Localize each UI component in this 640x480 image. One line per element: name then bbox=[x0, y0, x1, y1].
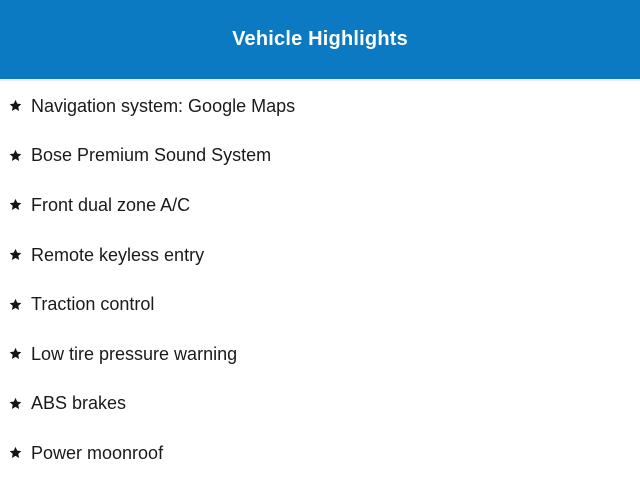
vehicle-highlights-list: Navigation system: Google Maps Bose Prem… bbox=[0, 81, 640, 480]
list-item-label: Low tire pressure warning bbox=[31, 345, 237, 363]
star-icon bbox=[9, 99, 22, 112]
list-item: ABS brakes bbox=[0, 379, 640, 429]
list-item-label: Front dual zone A/C bbox=[31, 196, 190, 214]
list-item-label: Navigation system: Google Maps bbox=[31, 97, 295, 115]
star-icon bbox=[9, 198, 22, 211]
list-item-label: ABS brakes bbox=[31, 394, 126, 412]
list-item: Remote keyless entry bbox=[0, 230, 640, 280]
star-icon bbox=[9, 397, 22, 410]
list-item: Power moonroof bbox=[0, 428, 640, 478]
list-item: Navigation system: Google Maps bbox=[0, 81, 640, 131]
panel-header: Vehicle Highlights bbox=[0, 0, 640, 79]
star-icon bbox=[9, 347, 22, 360]
list-item-label: Bose Premium Sound System bbox=[31, 146, 271, 164]
star-icon bbox=[9, 248, 22, 261]
star-icon bbox=[9, 149, 22, 162]
vehicle-highlights-panel: Vehicle Highlights Navigation system: Go… bbox=[0, 0, 640, 480]
list-item: Bose Premium Sound System bbox=[0, 131, 640, 181]
list-item-label: Traction control bbox=[31, 295, 154, 313]
list-item-label: Remote keyless entry bbox=[31, 246, 204, 264]
star-icon bbox=[9, 298, 22, 311]
list-item: Traction control bbox=[0, 279, 640, 329]
star-icon bbox=[9, 446, 22, 459]
list-item-label: Power moonroof bbox=[31, 444, 163, 462]
page-title: Vehicle Highlights bbox=[232, 29, 408, 49]
list-item: Front dual zone A/C bbox=[0, 180, 640, 230]
list-item: Low tire pressure warning bbox=[0, 329, 640, 379]
